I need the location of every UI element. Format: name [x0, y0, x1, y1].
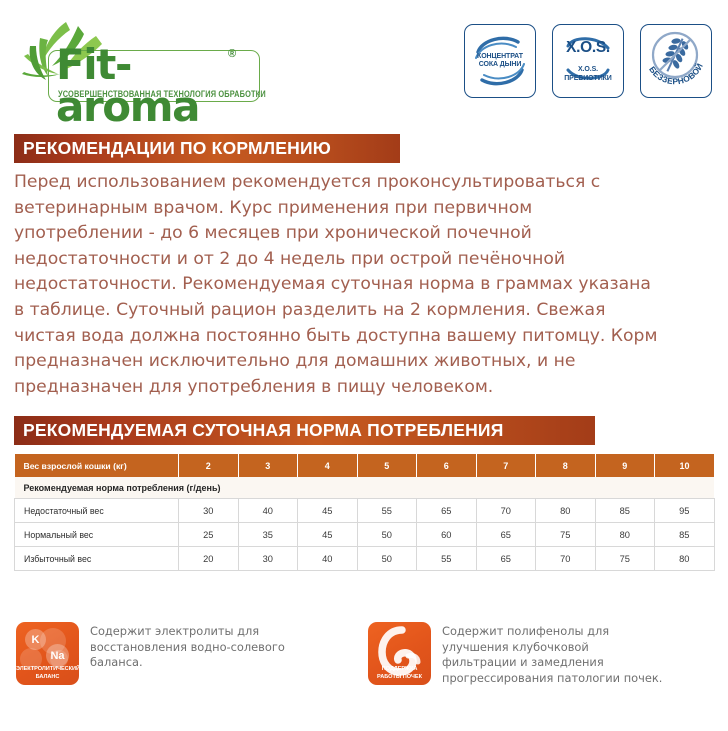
badge-label-line1: КОНЦЕНТРАТ [477, 53, 523, 61]
cell-overweight-4: 40 [298, 547, 358, 571]
feeding-line: ветеринарным врачом. Курс применения при… [14, 196, 674, 222]
sodium-symbol: Na [46, 644, 69, 667]
feature-text-line: прогрессирования патологии почек. [442, 671, 662, 687]
cell-normalweight-4: 45 [298, 523, 358, 547]
cell-overweight-5: 50 [357, 547, 417, 571]
table-header-weight-2: 2 [179, 454, 239, 477]
cell-underweight-6: 65 [417, 499, 477, 523]
cell-normalweight-6: 60 [417, 523, 477, 547]
electrolyte-icon: K Na ЭЛЕКТРОЛИТИЧЕСКИЙ БАЛАНС [16, 622, 79, 685]
electrolyte-icon-caption: ЭЛЕКТРОЛИТИЧЕСКИЙ БАЛАНС [16, 666, 79, 681]
feature-text-line: фильтрации и замедления [442, 655, 662, 671]
badge-label-line2: СОКА ДЫНИ [477, 61, 523, 69]
cell-normalweight-10: 85 [655, 523, 715, 547]
table-header-weight-6: 6 [417, 454, 477, 477]
icon-caption-line2: БАЛАНС [16, 674, 79, 681]
table-header-weight-label: Вес взрослой кошки (кг) [15, 454, 179, 477]
cell-overweight-2: 20 [179, 547, 239, 571]
header-strip: Fit-aroma ® УСОВЕРШЕНСТВОВАННАЯ ТЕХНОЛОГ… [0, 0, 728, 122]
table-subtitle-row: Рекомендуемая норма потребления (г/день) [15, 477, 715, 499]
icon-caption-line1: ПОДДЕРЖКА [368, 666, 431, 673]
table-subtitle: Рекомендуемая норма потребления (г/день) [15, 477, 715, 499]
table-header-weight-3: 3 [238, 454, 298, 477]
cell-normalweight-2: 25 [179, 523, 239, 547]
cell-overweight-9: 75 [595, 547, 655, 571]
table-row: Избыточный вес 20 30 40 50 55 65 70 75 8… [15, 547, 715, 571]
feeding-line: Перед использованием рекомендуется проко… [14, 170, 674, 196]
daily-norm-table: Вес взрослой кошки (кг) 2 3 4 5 6 7 8 9 … [14, 454, 715, 571]
table-header-weight-7: 7 [476, 454, 536, 477]
table-row: Недостаточный вес 30 40 45 55 65 70 80 8… [15, 499, 715, 523]
feeding-line: предназначен для употребления в пищу чел… [14, 375, 674, 401]
feature-electrolyte-balance: K Na ЭЛЕКТРОЛИТИЧЕСКИЙ БАЛАНС Содержит э… [16, 622, 285, 685]
cell-overweight-10: 80 [655, 547, 715, 571]
table-header-weight-8: 8 [536, 454, 596, 477]
cell-overweight-8: 70 [536, 547, 596, 571]
feature-kidney-support: ПОДДЕРЖКА РАБОТЫ ПОЧЕК Содержит полифено… [368, 622, 662, 686]
cell-overweight-6: 55 [417, 547, 477, 571]
cell-underweight-3: 40 [238, 499, 298, 523]
certification-badges: КОНЦЕНТРАТ СОКА ДЫНИ X.O.S. X.O.S. ПРЕБИ… [464, 24, 712, 98]
badge-label-line1: X.O.S. [564, 66, 612, 74]
feature-text-line: Содержит электролиты для [90, 624, 285, 640]
registered-mark: ® [228, 48, 236, 60]
feeding-line: недостаточности и от 2 до 4 недель при о… [14, 247, 674, 273]
cell-underweight-9: 85 [595, 499, 655, 523]
no-grain-icon: БЕЗЗЕРНОВОЙ СОСТАВ [641, 25, 711, 97]
kidney-icon-caption: ПОДДЕРЖКА РАБОТЫ ПОЧЕК [368, 666, 431, 681]
cell-underweight-10: 95 [655, 499, 715, 523]
cell-underweight-8: 80 [536, 499, 596, 523]
feature-text-line: улучшения клубочковой [442, 640, 662, 656]
cell-normalweight-5: 50 [357, 523, 417, 547]
badge-melon-juice-concentrate: КОНЦЕНТРАТ СОКА ДЫНИ [464, 24, 536, 98]
feeding-line: недостаточности. Рекомендуемая суточная … [14, 272, 674, 298]
table-row: Нормальный вес 25 35 45 50 60 65 75 80 8… [15, 523, 715, 547]
cell-normalweight-8: 75 [536, 523, 596, 547]
logo-tagline: УСОВЕРШЕНСТВОВАННАЯ ТЕХНОЛОГИЯ ОБРАБОТКИ [58, 88, 256, 99]
cell-normalweight-3: 35 [238, 523, 298, 547]
feature-electrolyte-text: Содержит электролиты для восстановления … [90, 622, 285, 685]
feeding-line: употреблении - до 6 месяцев при хроничес… [14, 221, 674, 247]
cell-normalweight-7: 65 [476, 523, 536, 547]
cell-underweight-7: 70 [476, 499, 536, 523]
row-label-underweight: Недостаточный вес [15, 499, 179, 523]
badge-xos-prebiotics: X.O.S. X.O.S. ПРЕБИОТИКИ [552, 24, 624, 98]
cell-normalweight-9: 80 [595, 523, 655, 547]
kidney-icon: ПОДДЕРЖКА РАБОТЫ ПОЧЕК [368, 622, 431, 685]
badge-label-line2: ПРЕБИОТИКИ [564, 75, 612, 83]
feeding-paragraph: Перед использованием рекомендуется проко… [14, 170, 674, 400]
heading-feeding-recommendations: РЕКОМЕНДАЦИИ ПО КОРМЛЕНИЮ [14, 134, 400, 163]
potassium-symbol: K [25, 629, 46, 650]
cell-overweight-3: 30 [238, 547, 298, 571]
row-label-normalweight: Нормальный вес [15, 523, 179, 547]
row-label-overweight: Избыточный вес [15, 547, 179, 571]
feeding-line: чистая вода должна постоянно быть доступ… [14, 324, 674, 350]
brand-logo: Fit-aroma ® УСОВЕРШЕНСТВОВАННАЯ ТЕХНОЛОГ… [14, 16, 264, 102]
table-header-weight-10: 10 [655, 454, 715, 477]
feature-text-line: восстановления водно-солевого [90, 640, 285, 656]
cell-underweight-2: 30 [179, 499, 239, 523]
cell-underweight-5: 55 [357, 499, 417, 523]
feature-kidney-text: Содержит полифенолы для улучшения клубоч… [442, 622, 662, 686]
badge-grain-free: БЕЗЗЕРНОВОЙ СОСТАВ [640, 24, 712, 98]
heading-daily-norm: РЕКОМЕНДУЕМАЯ СУТОЧНАЯ НОРМА ПОТРЕБЛЕНИЯ [14, 416, 595, 445]
table-header-weight-5: 5 [357, 454, 417, 477]
feature-text-line: баланса. [90, 655, 285, 671]
cell-underweight-4: 45 [298, 499, 358, 523]
feature-text-line: Содержит полифенолы для [442, 624, 662, 640]
badge-xos-text: X.O.S. [566, 39, 610, 57]
feeding-line: предназначен исключительно для домашних … [14, 349, 674, 375]
icon-caption-line2: РАБОТЫ ПОЧЕК [368, 674, 431, 681]
table-header-weight-9: 9 [595, 454, 655, 477]
table-header-row: Вес взрослой кошки (кг) 2 3 4 5 6 7 8 9 … [15, 454, 715, 477]
icon-caption-line1: ЭЛЕКТРОЛИТИЧЕСКИЙ [16, 666, 79, 673]
table-header-weight-4: 4 [298, 454, 358, 477]
cell-overweight-7: 65 [476, 547, 536, 571]
feeding-line: в таблице. Суточный рацион разделить на … [14, 298, 674, 324]
